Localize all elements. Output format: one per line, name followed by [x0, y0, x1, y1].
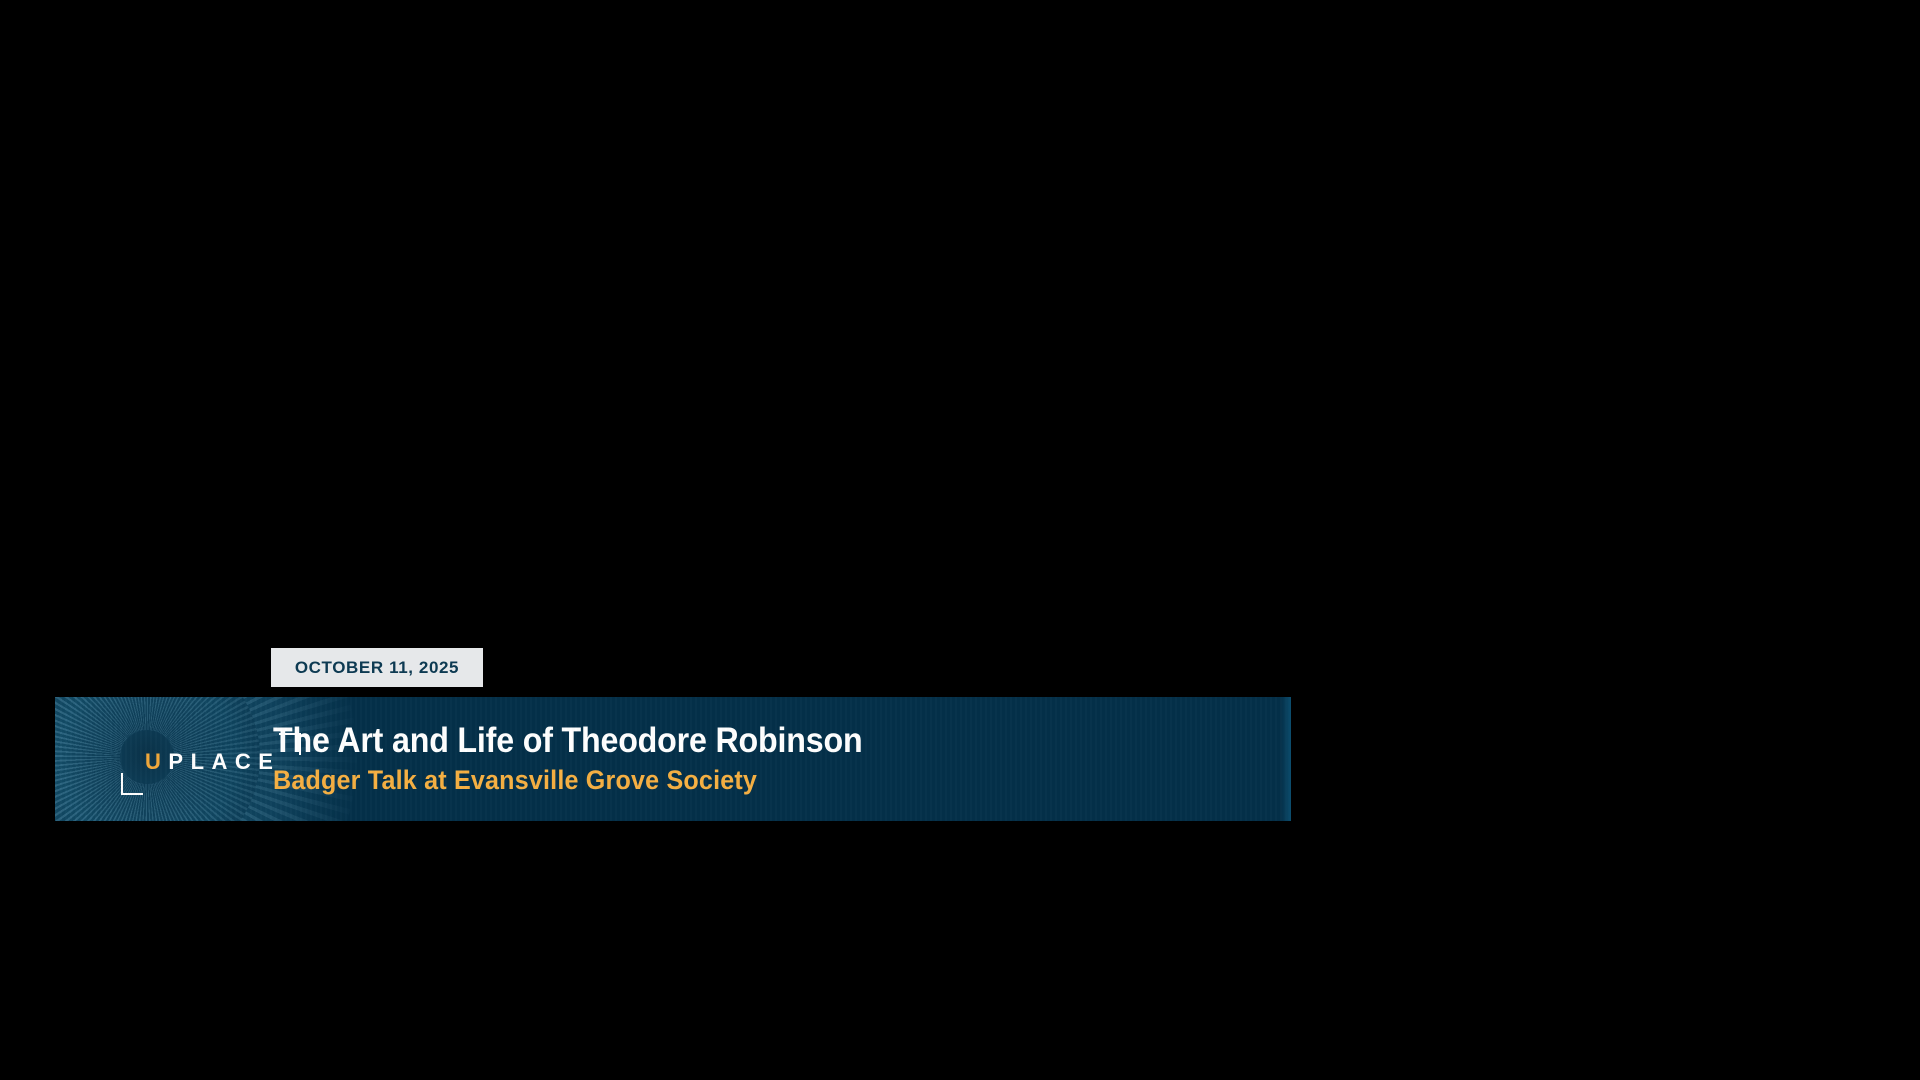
banner-text-block: The Art and Life of Theodore Robinson Ba… [273, 697, 1275, 821]
date-badge-label: OCTOBER 11, 2025 [295, 659, 459, 676]
uplace-logo-wordmark: UPLACE [145, 751, 280, 773]
event-banner-page: OCTOBER 11, 2025 UPLACE The Art and Life… [0, 0, 1920, 1080]
corner-bracket-bottom-left-icon [121, 773, 143, 795]
logo-remaining-letters: PLACE [168, 749, 280, 774]
banner-right-edge-highlight [1281, 697, 1291, 821]
event-banner-card[interactable]: UPLACE The Art and Life of Theodore Robi… [55, 697, 1291, 821]
event-title: The Art and Life of Theodore Robinson [273, 722, 1195, 760]
event-subtitle: Badger Talk at Evansville Grove Society [273, 766, 1205, 796]
logo-accent-letter: U [145, 749, 168, 774]
date-badge: OCTOBER 11, 2025 [271, 648, 483, 687]
